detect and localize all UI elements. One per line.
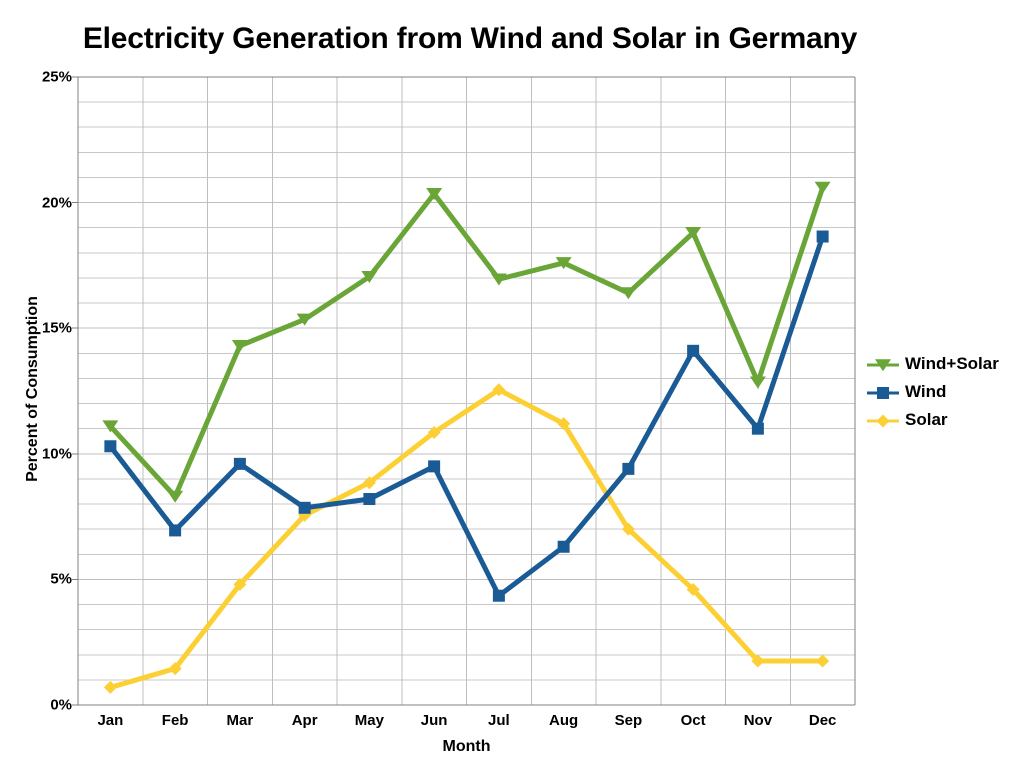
data-point-marker <box>817 231 829 243</box>
chart-legend: Wind+SolarWindSolar <box>866 350 1024 434</box>
data-point-marker <box>752 423 764 435</box>
data-point-marker <box>815 182 831 194</box>
legend-marker-icon <box>866 356 900 374</box>
legend-marker-icon <box>866 412 900 430</box>
data-point-marker <box>363 493 375 505</box>
chart-container: Electricity Generation from Wind and Sol… <box>0 0 1024 768</box>
data-point-marker <box>428 460 440 472</box>
data-point-marker <box>750 376 766 388</box>
data-point-marker <box>816 655 829 668</box>
data-point-marker <box>234 458 246 470</box>
data-point-marker <box>169 524 181 536</box>
data-point-marker <box>299 502 311 514</box>
data-point-marker <box>104 681 117 694</box>
data-point-marker <box>687 345 699 357</box>
data-point-marker <box>104 440 116 452</box>
legend-item[interactable]: Solar <box>866 406 1024 434</box>
legend-item-label: Wind <box>905 382 946 402</box>
axis-lines <box>72 77 855 705</box>
data-point-marker <box>558 541 570 553</box>
data-point-marker <box>493 590 505 602</box>
legend-item[interactable]: Wind <box>866 378 1024 406</box>
legend-item-label: Solar <box>905 410 948 430</box>
legend-item[interactable]: Wind+Solar <box>866 350 1024 378</box>
data-point-marker <box>167 491 183 503</box>
legend-item-label: Wind+Solar <box>905 354 999 374</box>
legend-swatch-triangle-down-icon <box>866 356 900 372</box>
data-point-marker <box>877 387 889 399</box>
legend-swatch-square-icon <box>866 384 900 400</box>
grid-lines <box>78 77 855 705</box>
data-point-marker <box>620 287 636 299</box>
data-point-marker <box>877 415 890 428</box>
legend-marker-icon <box>866 384 900 402</box>
legend-swatch-diamond-icon <box>866 412 900 428</box>
data-point-marker <box>622 463 634 475</box>
